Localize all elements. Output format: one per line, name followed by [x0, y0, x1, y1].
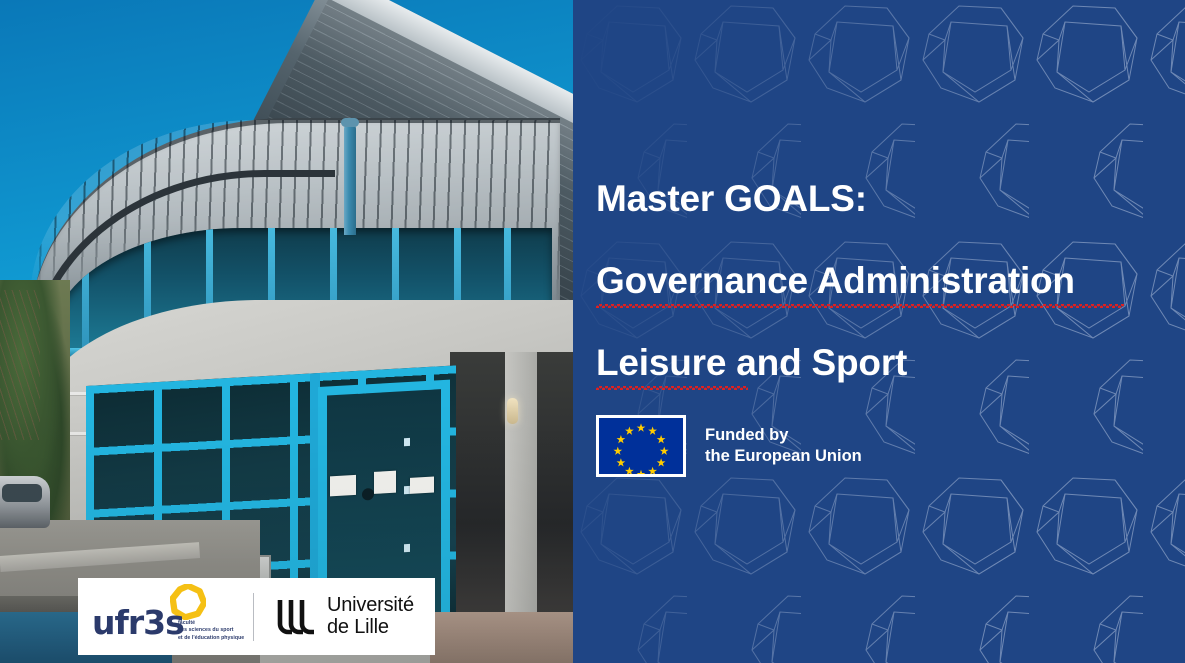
wall-lamp — [507, 398, 518, 424]
title-block: Master GOALS: Governance Administration … — [596, 180, 1185, 381]
ufr3s-sub-line-3: et de l'éducation physique — [178, 635, 244, 642]
ufr3s-logo: ufr3s faculté des sciences du sport et d… — [78, 578, 253, 655]
title-line-3: Leisure and Sport — [596, 344, 1185, 381]
title-line-3-text: Leisure and Sport — [596, 342, 907, 383]
ufr3s-sub-line-1: faculté — [178, 620, 244, 627]
title-line-2: Governance Administration — [596, 262, 1185, 299]
car-window — [2, 484, 42, 502]
eu-flag-field — [599, 418, 683, 474]
blue-content-panel: Master GOALS: Governance Administration … — [573, 0, 1185, 663]
spellcheck-underline — [596, 304, 1124, 308]
universite-de-lille-logo: Université de Lille — [254, 595, 414, 638]
eu-funding-text: Funded by the European Union — [705, 425, 862, 467]
door-notice — [410, 477, 434, 494]
spellcheck-underline — [596, 386, 748, 390]
door-notice — [330, 475, 356, 496]
bare-tree — [0, 290, 40, 440]
title-line-2-text: Governance Administration — [596, 260, 1075, 301]
eu-funding-lockup: Funded by the European Union — [596, 415, 862, 477]
pavement — [430, 612, 573, 663]
ufr3s-wordmark: ufr3s — [92, 603, 184, 642]
eu-funding-line-1: Funded by — [705, 426, 788, 444]
door-notice — [374, 471, 396, 494]
logo-banner: ufr3s faculté des sciences du sport et d… — [78, 578, 435, 655]
european-union-flag-icon — [596, 415, 686, 477]
udl-line-1: Université — [327, 595, 414, 617]
ufr3s-subtitle: faculté des sciences du sport et de l'éd… — [178, 620, 244, 642]
universite-de-lille-mark-icon — [276, 598, 316, 636]
title-line-1: Master GOALS: — [596, 180, 1185, 217]
ufr3s-sub-line-2: des sciences du sport — [178, 627, 244, 634]
universite-de-lille-text: Université de Lille — [327, 595, 414, 638]
building-photo — [0, 0, 573, 663]
entrance-column — [505, 352, 537, 642]
udl-line-2: de Lille — [327, 617, 414, 639]
eu-stars — [599, 418, 683, 474]
eu-funding-line-2: the European Union — [705, 447, 862, 465]
title-slide: Master GOALS: Governance Administration … — [0, 0, 1185, 663]
vent-pipe-cap — [341, 118, 359, 127]
vent-pipe — [344, 123, 356, 235]
